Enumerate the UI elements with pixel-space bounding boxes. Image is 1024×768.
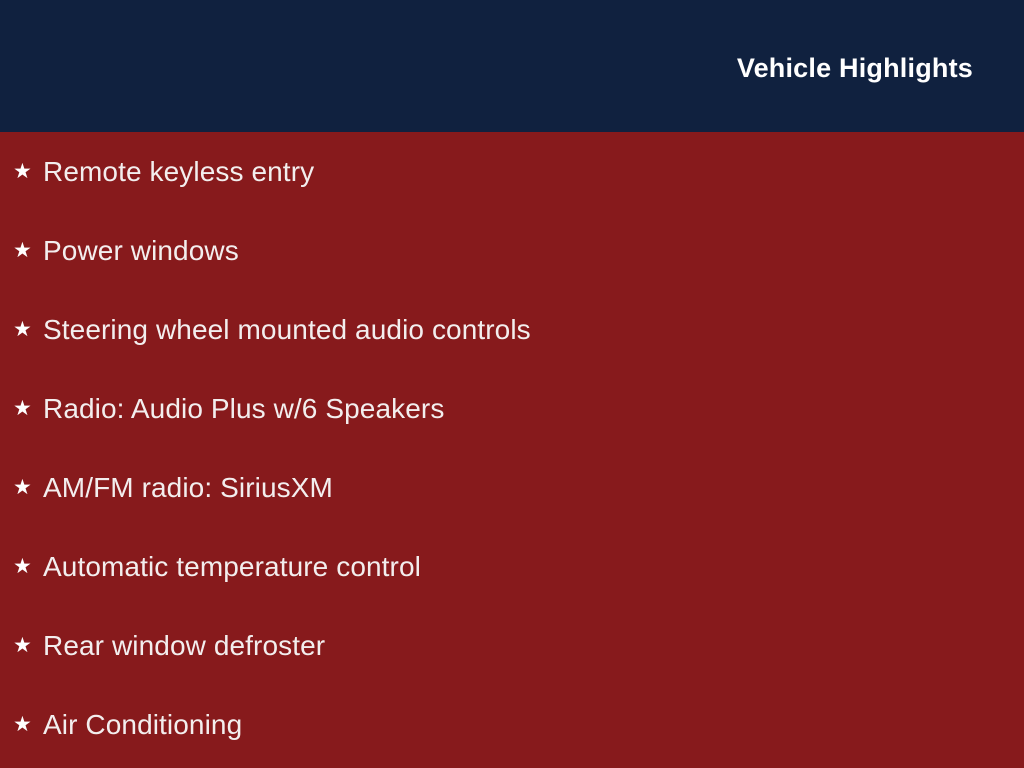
- list-item: ★ Power windows: [0, 211, 1024, 290]
- content-area: ★ Remote keyless entry ★ Power windows ★…: [0, 132, 1024, 768]
- list-item-label: Power windows: [43, 234, 239, 268]
- list-item-label: Radio: Audio Plus w/6 Speakers: [43, 392, 444, 426]
- star-icon: ★: [13, 632, 30, 660]
- header-bar: Vehicle Highlights: [0, 0, 1024, 132]
- list-item: ★ Air Conditioning: [0, 685, 1024, 764]
- star-icon: ★: [13, 395, 30, 423]
- star-icon: ★: [13, 711, 30, 739]
- page-title: Vehicle Highlights: [737, 55, 973, 82]
- list-item: ★ Rear window defroster: [0, 606, 1024, 685]
- list-item: ★ Steering wheel mounted audio controls: [0, 290, 1024, 369]
- slide-canvas: Vehicle Highlights ★ Remote keyless entr…: [0, 0, 1024, 768]
- vehicle-highlights-list: ★ Remote keyless entry ★ Power windows ★…: [0, 132, 1024, 764]
- list-item-label: AM/FM radio: SiriusXM: [43, 471, 333, 505]
- list-item-label: Remote keyless entry: [43, 155, 314, 189]
- list-item: ★ Remote keyless entry: [0, 132, 1024, 211]
- star-icon: ★: [13, 474, 30, 502]
- star-icon: ★: [13, 316, 30, 344]
- star-icon: ★: [13, 237, 30, 265]
- star-icon: ★: [13, 553, 30, 581]
- list-item-label: Rear window defroster: [43, 629, 325, 663]
- list-item: ★ Automatic temperature control: [0, 527, 1024, 606]
- list-item: ★ Radio: Audio Plus w/6 Speakers: [0, 369, 1024, 448]
- list-item-label: Air Conditioning: [43, 708, 242, 742]
- star-icon: ★: [13, 158, 30, 186]
- list-item-label: Automatic temperature control: [43, 550, 421, 584]
- list-item: ★ AM/FM radio: SiriusXM: [0, 448, 1024, 527]
- list-item-label: Steering wheel mounted audio controls: [43, 313, 531, 347]
